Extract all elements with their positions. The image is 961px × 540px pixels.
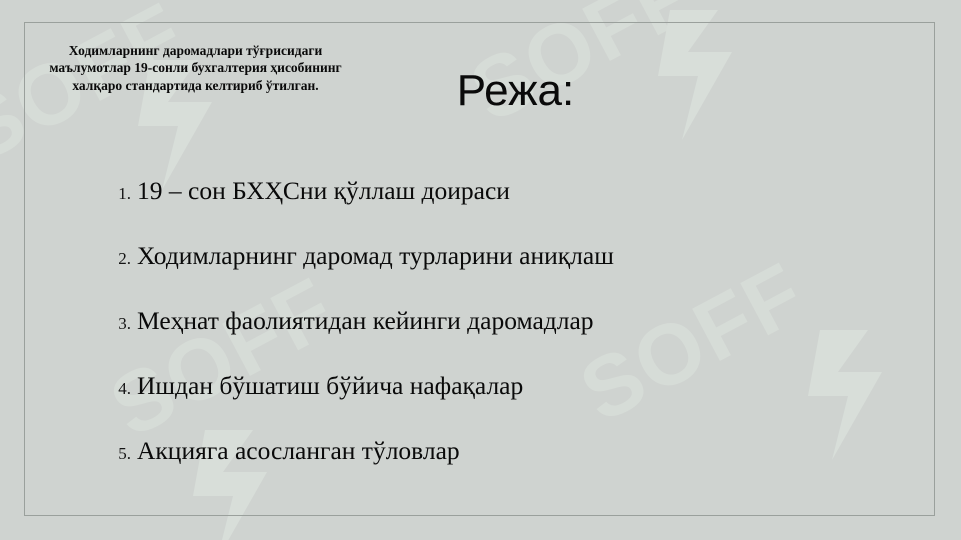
slide-content: Ходимларнинг даромадлари тўғрисидаги маъ… bbox=[0, 0, 961, 540]
list-item-label: Ишдан бўшатиш бўйича нафақалар bbox=[137, 373, 523, 399]
list-item: 1. 19 – сон БХҲСни қўллаш доираси bbox=[95, 178, 875, 243]
list-item-number: 5. bbox=[95, 444, 137, 464]
list-item-label: Меҳнат фаолиятидан кейинги даромадлар bbox=[137, 308, 594, 334]
list-item-number: 4. bbox=[95, 379, 137, 399]
list-item: 4. Ишдан бўшатиш бўйича нафақалар bbox=[95, 373, 875, 438]
list-item-label: 19 – сон БХҲСни қўллаш доираси bbox=[137, 178, 510, 204]
list-item-number: 1. bbox=[95, 184, 137, 204]
list-item-number: 3. bbox=[95, 314, 137, 334]
slide: SOFF SOFF SOFF SOFF Ходимларнинг дарома bbox=[0, 0, 961, 540]
list-item-number: 2. bbox=[95, 249, 137, 269]
list-item: 3. Меҳнат фаолиятидан кейинги даромадлар bbox=[95, 308, 875, 373]
list-item-label: Ходимларнинг даромад турларини аниқлаш bbox=[137, 243, 614, 269]
list-item: 2. Ходимларнинг даромад турларини аниқла… bbox=[95, 243, 875, 308]
list-item: 5. Акцияга асосланган тўловлар bbox=[95, 438, 875, 503]
page-title: Режа: bbox=[0, 66, 961, 116]
agenda-list: 1. 19 – сон БХҲСни қўллаш доираси 2. Ход… bbox=[95, 178, 875, 503]
list-item-label: Акцияга асосланган тўловлар bbox=[137, 438, 460, 464]
